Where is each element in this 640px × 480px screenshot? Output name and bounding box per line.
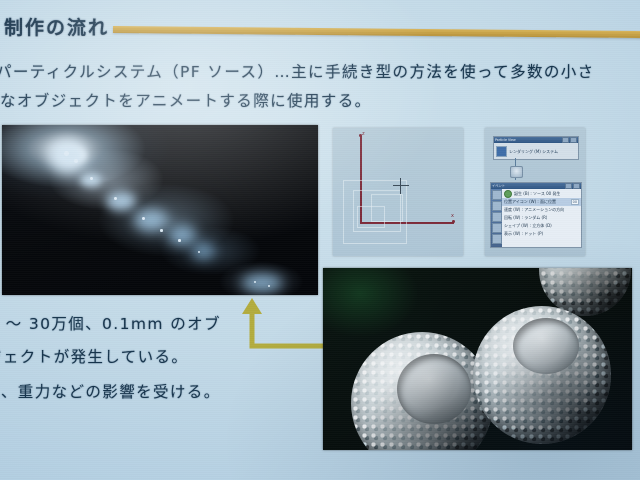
menu-title-text: イベント [492,184,505,189]
menu-item-list: 誕生 (B) : ソース 00 発生 位置アイコン (W) : 面に位置 00 … [502,189,581,247]
slide-body-line-2: なオブジェクトをアニメートする際に使用する。 [0,89,372,111]
callout-arrow-icon [228,296,323,354]
sphere-main [473,306,611,444]
particle-view-dialog-image: Particle View レンダリング (M) システム イベント [485,128,585,256]
dialog-row-text: レンダリング (M) システム [509,149,558,155]
menu-body: 誕生 (B) : ソース 00 発生 位置アイコン (W) : 面に位置 00 … [491,189,581,247]
menu-item-label: 速度 (W) : アニメーションの方向 [504,207,564,213]
axis-viewport-image: z x [333,128,463,256]
crosshair-cursor-icon [393,178,409,194]
rail-chip-icon[interactable] [492,223,502,233]
menu-item-label: 誕生 (B) : ソース 00 発生 [514,191,560,197]
slide-note-line-1: 0 ～ 30万個、0.1mm のオブ [0,312,221,334]
menu-item[interactable]: シェイプ (W) : 立方体 (D) [502,222,581,230]
menu-side-rail [491,189,502,247]
sphere-left [351,332,493,450]
title-underline-rule [113,26,640,38]
menu-item[interactable]: 速度 (W) : アニメーションの方向 [502,206,581,214]
dialog-window-buttons [562,137,577,143]
menu-item[interactable]: 誕生 (B) : ソース 00 発生 [502,190,581,198]
menu-item-badge: 00 [571,199,579,205]
dialog-row: レンダリング (M) システム [494,143,578,160]
presentation-slide: 制作の流れ パーティクルシステム（PF ソース）…主に手続き型の方法を使って多数… [0,0,640,480]
dialog-title-text: Particle View [495,138,516,142]
event-menu-window: イベント 誕生 (B) : ソース 00 発生 [490,182,582,248]
studded-spheres-image [323,268,632,450]
viewport-x-axis-label: x [451,213,454,219]
viewport-wireframe-box [371,194,403,222]
node-handle-icon[interactable] [510,166,523,178]
sphere-shading [351,332,493,450]
slide-title: 制作の流れ [4,13,109,40]
slide-body-line-1: パーティクルシステム（PF ソース）…主に手続き型の方法を使って多数の小さ [0,60,595,82]
menu-item-label: 位置アイコン (W) : 面に位置 [504,199,556,205]
sphere-shading [473,306,611,444]
viewport-y-axis-label: z [362,131,365,137]
minimize-icon[interactable] [562,137,569,143]
menu-item[interactable]: 表示 (W) : ドット (P) [502,230,581,238]
rail-chip-icon[interactable] [492,190,502,200]
bullet-icon [504,190,512,198]
particle-stream-image [2,125,318,295]
rail-chip-icon[interactable] [492,201,502,211]
swatch-icon[interactable] [496,146,507,157]
slide-note-line-2: ジェクトが発生している。 [0,345,188,367]
dialog-window: Particle View レンダリング (M) システム [493,136,579,160]
close-icon[interactable] [570,137,577,143]
menu-item-label: 表示 (W) : ドット (P) [504,231,543,237]
rail-chip-icon[interactable] [492,212,502,222]
slide-note-line-3: 風、重力などの影響を受ける。 [0,380,221,402]
menu-item-label: シェイプ (W) : 立方体 (D) [504,223,552,229]
menu-item[interactable]: 回転 (W) : ランダム (R) [502,214,581,222]
viewport-x-axis-cap [452,220,455,223]
menu-item-label: 回転 (W) : ランダム (R) [504,215,547,221]
rail-chip-icon[interactable] [492,234,502,244]
menu-item[interactable]: 位置アイコン (W) : 面に位置 00 [502,198,581,206]
